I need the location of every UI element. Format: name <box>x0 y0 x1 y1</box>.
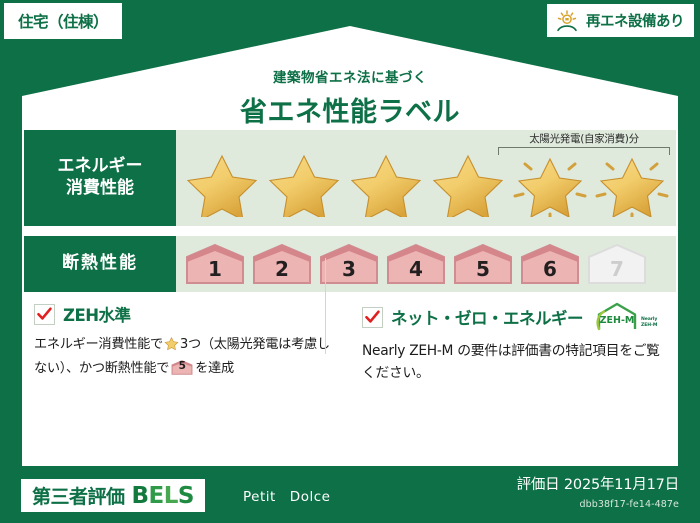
sun-over-hill-icon <box>554 9 580 33</box>
star-icon-4 <box>428 151 508 217</box>
energy-performance-label-box: エネルギー 消費性能 <box>24 130 176 226</box>
evaluation-date-label: 評価日 <box>517 477 560 493</box>
certification-divider <box>325 258 326 354</box>
energy-performance-label: 住宅（住棟） 再エネ設備あり 建築物省エネ法に基づく 省エネ性能ラベル エネルギ… <box>0 0 700 523</box>
inline-insulation-grade-badge: 5 <box>171 360 193 375</box>
zeh-standard-description-part3: を達成 <box>195 361 234 376</box>
check-icon <box>37 307 52 322</box>
check-icon <box>365 310 380 325</box>
zeh-m-logo-subtext-line2: ZEH-M <box>641 323 657 328</box>
zeh-standard-heading: ZEH水準 <box>34 302 334 326</box>
insulation-grade-4: 4 <box>385 243 447 285</box>
insulation-performance-row: 断熱性能 1 2 <box>24 236 676 292</box>
inline-star-icon <box>164 336 179 358</box>
zeh-m-logo: ZEH-M Nearly ZEH-M <box>595 302 657 332</box>
building-name: Petit Dolce <box>243 489 330 505</box>
renewable-equipment-badge-label: 再エネ設備あり <box>586 10 684 31</box>
zeh-standard-block: ZEH水準 エネルギー消費性能で3つ（太陽光発電は考慮しない）、かつ断熱性能で5… <box>24 302 350 410</box>
star-icon-3 <box>346 151 426 217</box>
insulation-grade-2-value: 2 <box>275 257 289 285</box>
insulation-grade-3: 3 <box>318 243 380 285</box>
star-icon-2 <box>264 151 344 217</box>
bels-wordmark: BELS <box>132 483 194 509</box>
bels-logo: 第三者評価 BELS <box>21 479 205 512</box>
evaluation-id: dbb38f17-fe14-487e <box>579 499 679 510</box>
zeh-standard-description-part1: エネルギー消費性能で <box>34 337 163 352</box>
label-title: 省エネ性能ラベル <box>0 90 700 129</box>
zeh-standard-checkbox <box>34 304 55 325</box>
zeh-m-logo-subtext: Nearly ZEH-M <box>641 317 657 332</box>
third-party-evaluation-label: 第三者評価 <box>32 482 125 509</box>
energy-performance-label-line2: 消費性能 <box>66 178 134 200</box>
insulation-performance-label: 断熱性能 <box>62 253 138 275</box>
evaluation-date: 評価日 2025年11月17日 <box>517 473 679 494</box>
energy-performance-row: エネルギー 消費性能 太陽光発電(自家消費)分 <box>24 130 676 226</box>
zeh-m-house-icon: ZEH-M <box>595 302 639 332</box>
net-zero-energy-title: ネット・ゼロ・エネルギー <box>391 305 583 329</box>
insulation-grade-4-value: 4 <box>409 257 423 285</box>
star-icon-6-solar <box>592 151 672 217</box>
insulation-grade-5: 5 <box>452 243 514 285</box>
inline-insulation-grade-value: 5 <box>171 358 193 375</box>
insulation-performance-label-box: 断熱性能 <box>24 236 176 292</box>
insulation-performance-body: 1 2 3 <box>176 236 676 292</box>
insulation-grade-scale: 1 2 3 <box>176 243 648 285</box>
label-subtitle: 建築物省エネ法に基づく <box>0 66 700 86</box>
label-title-block: 建築物省エネ法に基づく 省エネ性能ラベル <box>0 66 700 129</box>
zeh-standard-description: エネルギー消費性能で3つ（太陽光発電は考慮しない）、かつ断熱性能で5を達成 <box>34 334 334 380</box>
evaluation-date-value: 2025年11月17日 <box>564 477 679 493</box>
net-zero-energy-block: ネット・ゼロ・エネルギー ZEH-M Nearly ZEH-M Nearl <box>350 302 676 410</box>
energy-performance-label-line1: エネルギー <box>58 156 143 178</box>
zeh-m-logo-subtext-line1: Nearly <box>641 317 657 322</box>
certification-section: ZEH水準 エネルギー消費性能で3つ（太陽光発電は考慮しない）、かつ断熱性能で5… <box>24 302 676 410</box>
label-footer: 第三者評価 BELS Petit Dolce 評価日 2025年11月17日 d… <box>0 459 700 523</box>
insulation-grade-1-value: 1 <box>208 257 222 285</box>
zeh-standard-title: ZEH水準 <box>63 302 131 326</box>
insulation-grade-3-value: 3 <box>342 257 356 285</box>
star-icon-5-solar <box>510 151 590 217</box>
building-type-tag: 住宅（住棟） <box>4 3 122 39</box>
star-icon-1 <box>182 151 262 217</box>
insulation-grade-6: 6 <box>519 243 581 285</box>
insulation-grade-7-inactive: 7 <box>586 243 648 285</box>
insulation-grade-7-value: 7 <box>610 257 624 285</box>
energy-star-rating <box>176 151 672 217</box>
net-zero-energy-heading: ネット・ゼロ・エネルギー ZEH-M Nearly ZEH-M <box>362 302 668 332</box>
insulation-grade-1: 1 <box>184 243 246 285</box>
energy-performance-body: 太陽光発電(自家消費)分 <box>176 130 676 226</box>
insulation-grade-5-value: 5 <box>476 257 490 285</box>
renewable-equipment-badge: 再エネ設備あり <box>547 4 694 37</box>
insulation-grade-2: 2 <box>251 243 313 285</box>
building-type-tag-label: 住宅（住棟） <box>18 10 108 32</box>
label-content: エネルギー 消費性能 太陽光発電(自家消費)分 <box>24 130 676 458</box>
solar-generation-annotation-label: 太陽光発電(自家消費)分 <box>498 131 670 146</box>
net-zero-energy-checkbox <box>362 307 383 328</box>
insulation-grade-6-value: 6 <box>543 257 557 285</box>
net-zero-energy-description: Nearly ZEH-M の要件は評価書の特記項目をご覧ください。 <box>362 340 668 384</box>
svg-text:ZEH-M: ZEH-M <box>600 315 635 326</box>
